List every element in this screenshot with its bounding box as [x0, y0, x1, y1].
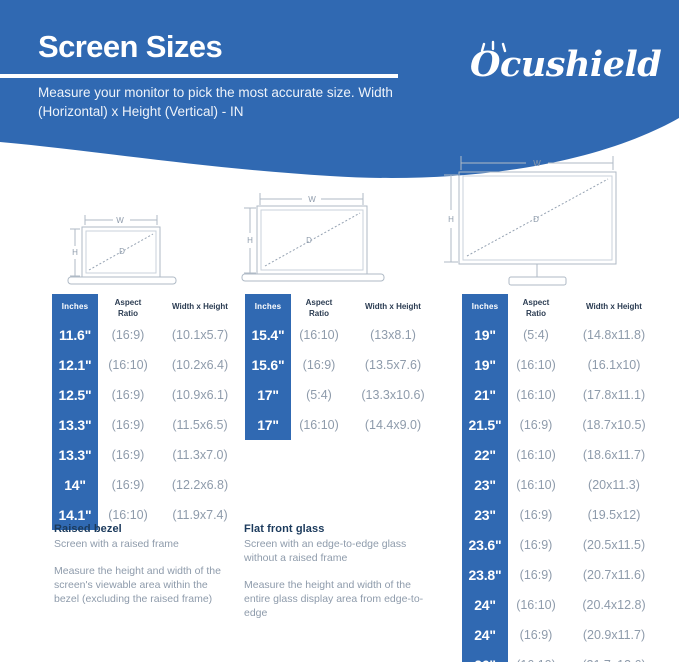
cell-inches: 13.3" — [52, 440, 98, 470]
cell-width-height: (11.3x7.0) — [156, 440, 244, 470]
note-raised-bezel: Raised bezel Screen with a raised frame … — [54, 523, 226, 606]
cell-inches: 24" — [462, 590, 508, 620]
cell-inches: 15.4" — [245, 320, 291, 350]
cell-width-height: (20.5x11.5) — [562, 530, 666, 560]
cell-aspect-ratio: (16:10) — [510, 590, 562, 620]
cell-aspect-ratio: (16:9) — [510, 620, 562, 650]
cell-inches: 23" — [462, 500, 508, 530]
column-header-width-height: Width x Height — [562, 294, 666, 320]
cell-inches: 23" — [462, 470, 508, 500]
cell-inches: 14" — [52, 470, 98, 500]
cell-width-height: (18.6x11.7) — [562, 440, 666, 470]
column-header-inches: Inches — [52, 294, 98, 320]
page-subtitle: Measure your monitor to pick the most ac… — [38, 83, 408, 121]
monitor-large-w-label: W — [533, 159, 541, 168]
monitor-large-h-label: H — [448, 215, 454, 224]
cell-inches: 17" — [245, 410, 291, 440]
cell-aspect-ratio: (16:9) — [102, 410, 154, 440]
monitor-medium-w-label: W — [308, 195, 316, 204]
laptop-d-label: D — [119, 247, 125, 256]
cell-width-height: (20.9x11.7) — [562, 620, 666, 650]
cell-inches: 19" — [462, 320, 508, 350]
cell-width-height: (16.1x10) — [562, 350, 666, 380]
cell-inches: 22" — [462, 440, 508, 470]
diagram-monitor-large: W H D — [428, 146, 640, 293]
cell-aspect-ratio: (5:4) — [510, 320, 562, 350]
cell-inches: 11.6" — [52, 320, 98, 350]
cell-inches: 13.3" — [52, 410, 98, 440]
monitor-large-d-label: D — [533, 215, 539, 224]
cell-aspect-ratio: (16:9) — [510, 530, 562, 560]
cell-width-height: (21.7x13.6) — [562, 650, 666, 662]
cell-width-height: (20.7x11.6) — [562, 560, 666, 590]
cell-width-height: (13x8.1) — [345, 320, 441, 350]
laptop-w-label: W — [116, 216, 124, 225]
ocushield-logo: Ocushield — [470, 40, 645, 92]
cell-width-height: (10.9x6.1) — [156, 380, 244, 410]
cell-aspect-ratio: (16:10) — [293, 410, 345, 440]
cell-aspect-ratio: (16:9) — [102, 470, 154, 500]
cell-inches: 21" — [462, 380, 508, 410]
cell-width-height: (19.5x12) — [562, 500, 666, 530]
logo-wordmark: Ocushield — [470, 40, 645, 90]
cell-aspect-ratio: (16:9) — [293, 350, 345, 380]
cell-aspect-ratio: (16:9) — [102, 380, 154, 410]
cell-width-height: (13.3x10.6) — [345, 380, 441, 410]
column-header-inches: Inches — [462, 294, 508, 320]
column-header-inches: Inches — [245, 294, 291, 320]
cell-width-height: (12.2x6.8) — [156, 470, 244, 500]
cell-inches: 26" — [462, 650, 508, 662]
cell-inches: 24" — [462, 620, 508, 650]
cell-inches: 23.8" — [462, 560, 508, 590]
note-title: Flat front glass — [244, 523, 424, 535]
column-header-aspect-ratio: AspectRatio — [293, 294, 345, 320]
cell-aspect-ratio: (16:9) — [510, 500, 562, 530]
cell-width-height: (11.5x6.5) — [156, 410, 244, 440]
cell-aspect-ratio: (16:9) — [102, 320, 154, 350]
monitor-medium-h-label: H — [247, 236, 253, 245]
note-body: Measure the height and width of the scre… — [54, 564, 226, 606]
note-body: Measure the height and width of the enti… — [244, 578, 424, 620]
cell-inches: 19" — [462, 350, 508, 380]
cell-width-height: (14.8x11.8) — [562, 320, 666, 350]
cell-width-height: (18.7x10.5) — [562, 410, 666, 440]
cell-aspect-ratio: (16:10) — [510, 350, 562, 380]
cell-aspect-ratio: (16:9) — [102, 440, 154, 470]
note-title: Raised bezel — [54, 523, 226, 535]
column-header-aspect-ratio: AspectRatio — [510, 294, 562, 320]
diagram-laptop: W H D — [60, 196, 210, 291]
cell-width-height: (20x11.3) — [562, 470, 666, 500]
cell-width-height: (14.4x9.0) — [345, 410, 441, 440]
column-header-width-height: Width x Height — [345, 294, 441, 320]
cell-aspect-ratio: (16:9) — [510, 410, 562, 440]
cell-aspect-ratio: (16:10) — [510, 470, 562, 500]
cell-aspect-ratio: (16:10) — [510, 650, 562, 662]
cell-inches: 12.1" — [52, 350, 98, 380]
column-header-aspect-ratio: AspectRatio — [102, 294, 154, 320]
cell-inches: 17" — [245, 380, 291, 410]
infographic-page: Screen Sizes Measure your monitor to pic… — [0, 0, 679, 662]
cell-inches: 23.6" — [462, 530, 508, 560]
page-title: Screen Sizes — [38, 31, 222, 62]
cell-inches: 21.5" — [462, 410, 508, 440]
laptop-h-label: H — [72, 248, 78, 257]
cell-aspect-ratio: (5:4) — [293, 380, 345, 410]
cell-width-height: (20.4x12.8) — [562, 590, 666, 620]
cell-aspect-ratio: (16:10) — [510, 440, 562, 470]
note-flat-front-glass: Flat front glass Screen with an edge-to-… — [244, 523, 424, 620]
cell-width-height: (17.8x11.1) — [562, 380, 666, 410]
cell-inches: 12.5" — [52, 380, 98, 410]
title-divider — [0, 74, 398, 78]
monitor-medium-d-label: D — [306, 236, 312, 245]
cell-inches: 15.6" — [245, 350, 291, 380]
cell-width-height: (13.5x7.6) — [345, 350, 441, 380]
diagram-monitor-medium: W H D — [236, 180, 396, 293]
column-header-width-height: Width x Height — [156, 294, 244, 320]
cell-aspect-ratio: (16:9) — [510, 560, 562, 590]
note-subtitle: Screen with an edge-to-edge glass withou… — [244, 537, 424, 565]
cell-width-height: (10.1x5.7) — [156, 320, 244, 350]
cell-aspect-ratio: (16:10) — [293, 320, 345, 350]
cell-width-height: (10.2x6.4) — [156, 350, 244, 380]
cell-aspect-ratio: (16:10) — [510, 380, 562, 410]
cell-aspect-ratio: (16:10) — [102, 350, 154, 380]
note-subtitle: Screen with a raised frame — [54, 537, 226, 551]
